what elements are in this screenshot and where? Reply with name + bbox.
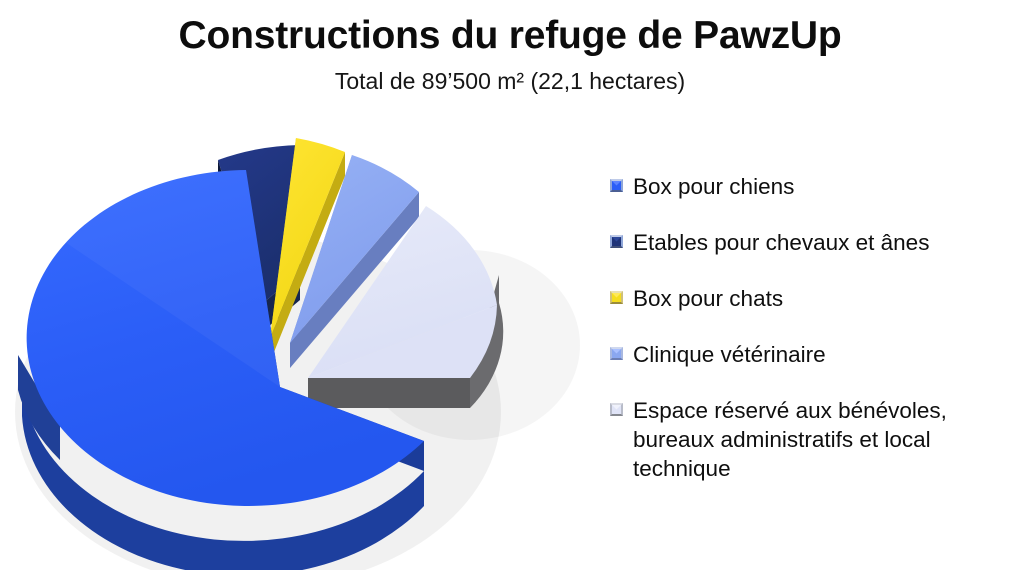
pie-chart-svg [0, 100, 600, 570]
legend-item-clinique[interactable]: Clinique vétérinaire [610, 340, 1015, 369]
legend-item-chats[interactable]: Box pour chats [610, 284, 1015, 313]
legend-item-etables[interactable]: Etables pour chevaux et ânes [610, 228, 1015, 257]
legend-item-label: Box pour chats [633, 284, 783, 313]
chart-page: Constructions du refuge de PawzUp Total … [0, 0, 1020, 575]
legend-swatch-icon [610, 403, 623, 416]
legend-item-label: Espace réservé aux bénévoles, bureaux ad… [633, 396, 1015, 483]
chart-legend: Box pour chiens Etables pour chevaux et … [610, 172, 1015, 483]
page-title: Constructions du refuge de PawzUp [0, 14, 1020, 58]
page-subtitle: Total de 89’500 m² (22,1 hectares) [0, 68, 1020, 95]
pie-chart [0, 100, 600, 570]
legend-swatch-icon [610, 179, 623, 192]
legend-swatch-icon [610, 291, 623, 304]
legend-item-espace[interactable]: Espace réservé aux bénévoles, bureaux ad… [610, 396, 1015, 483]
legend-swatch-icon [610, 235, 623, 248]
legend-item-chiens[interactable]: Box pour chiens [610, 172, 1015, 201]
legend-swatch-icon [610, 347, 623, 360]
legend-item-label: Etables pour chevaux et ânes [633, 228, 929, 257]
legend-item-label: Clinique vétérinaire [633, 340, 826, 369]
legend-item-label: Box pour chiens [633, 172, 794, 201]
